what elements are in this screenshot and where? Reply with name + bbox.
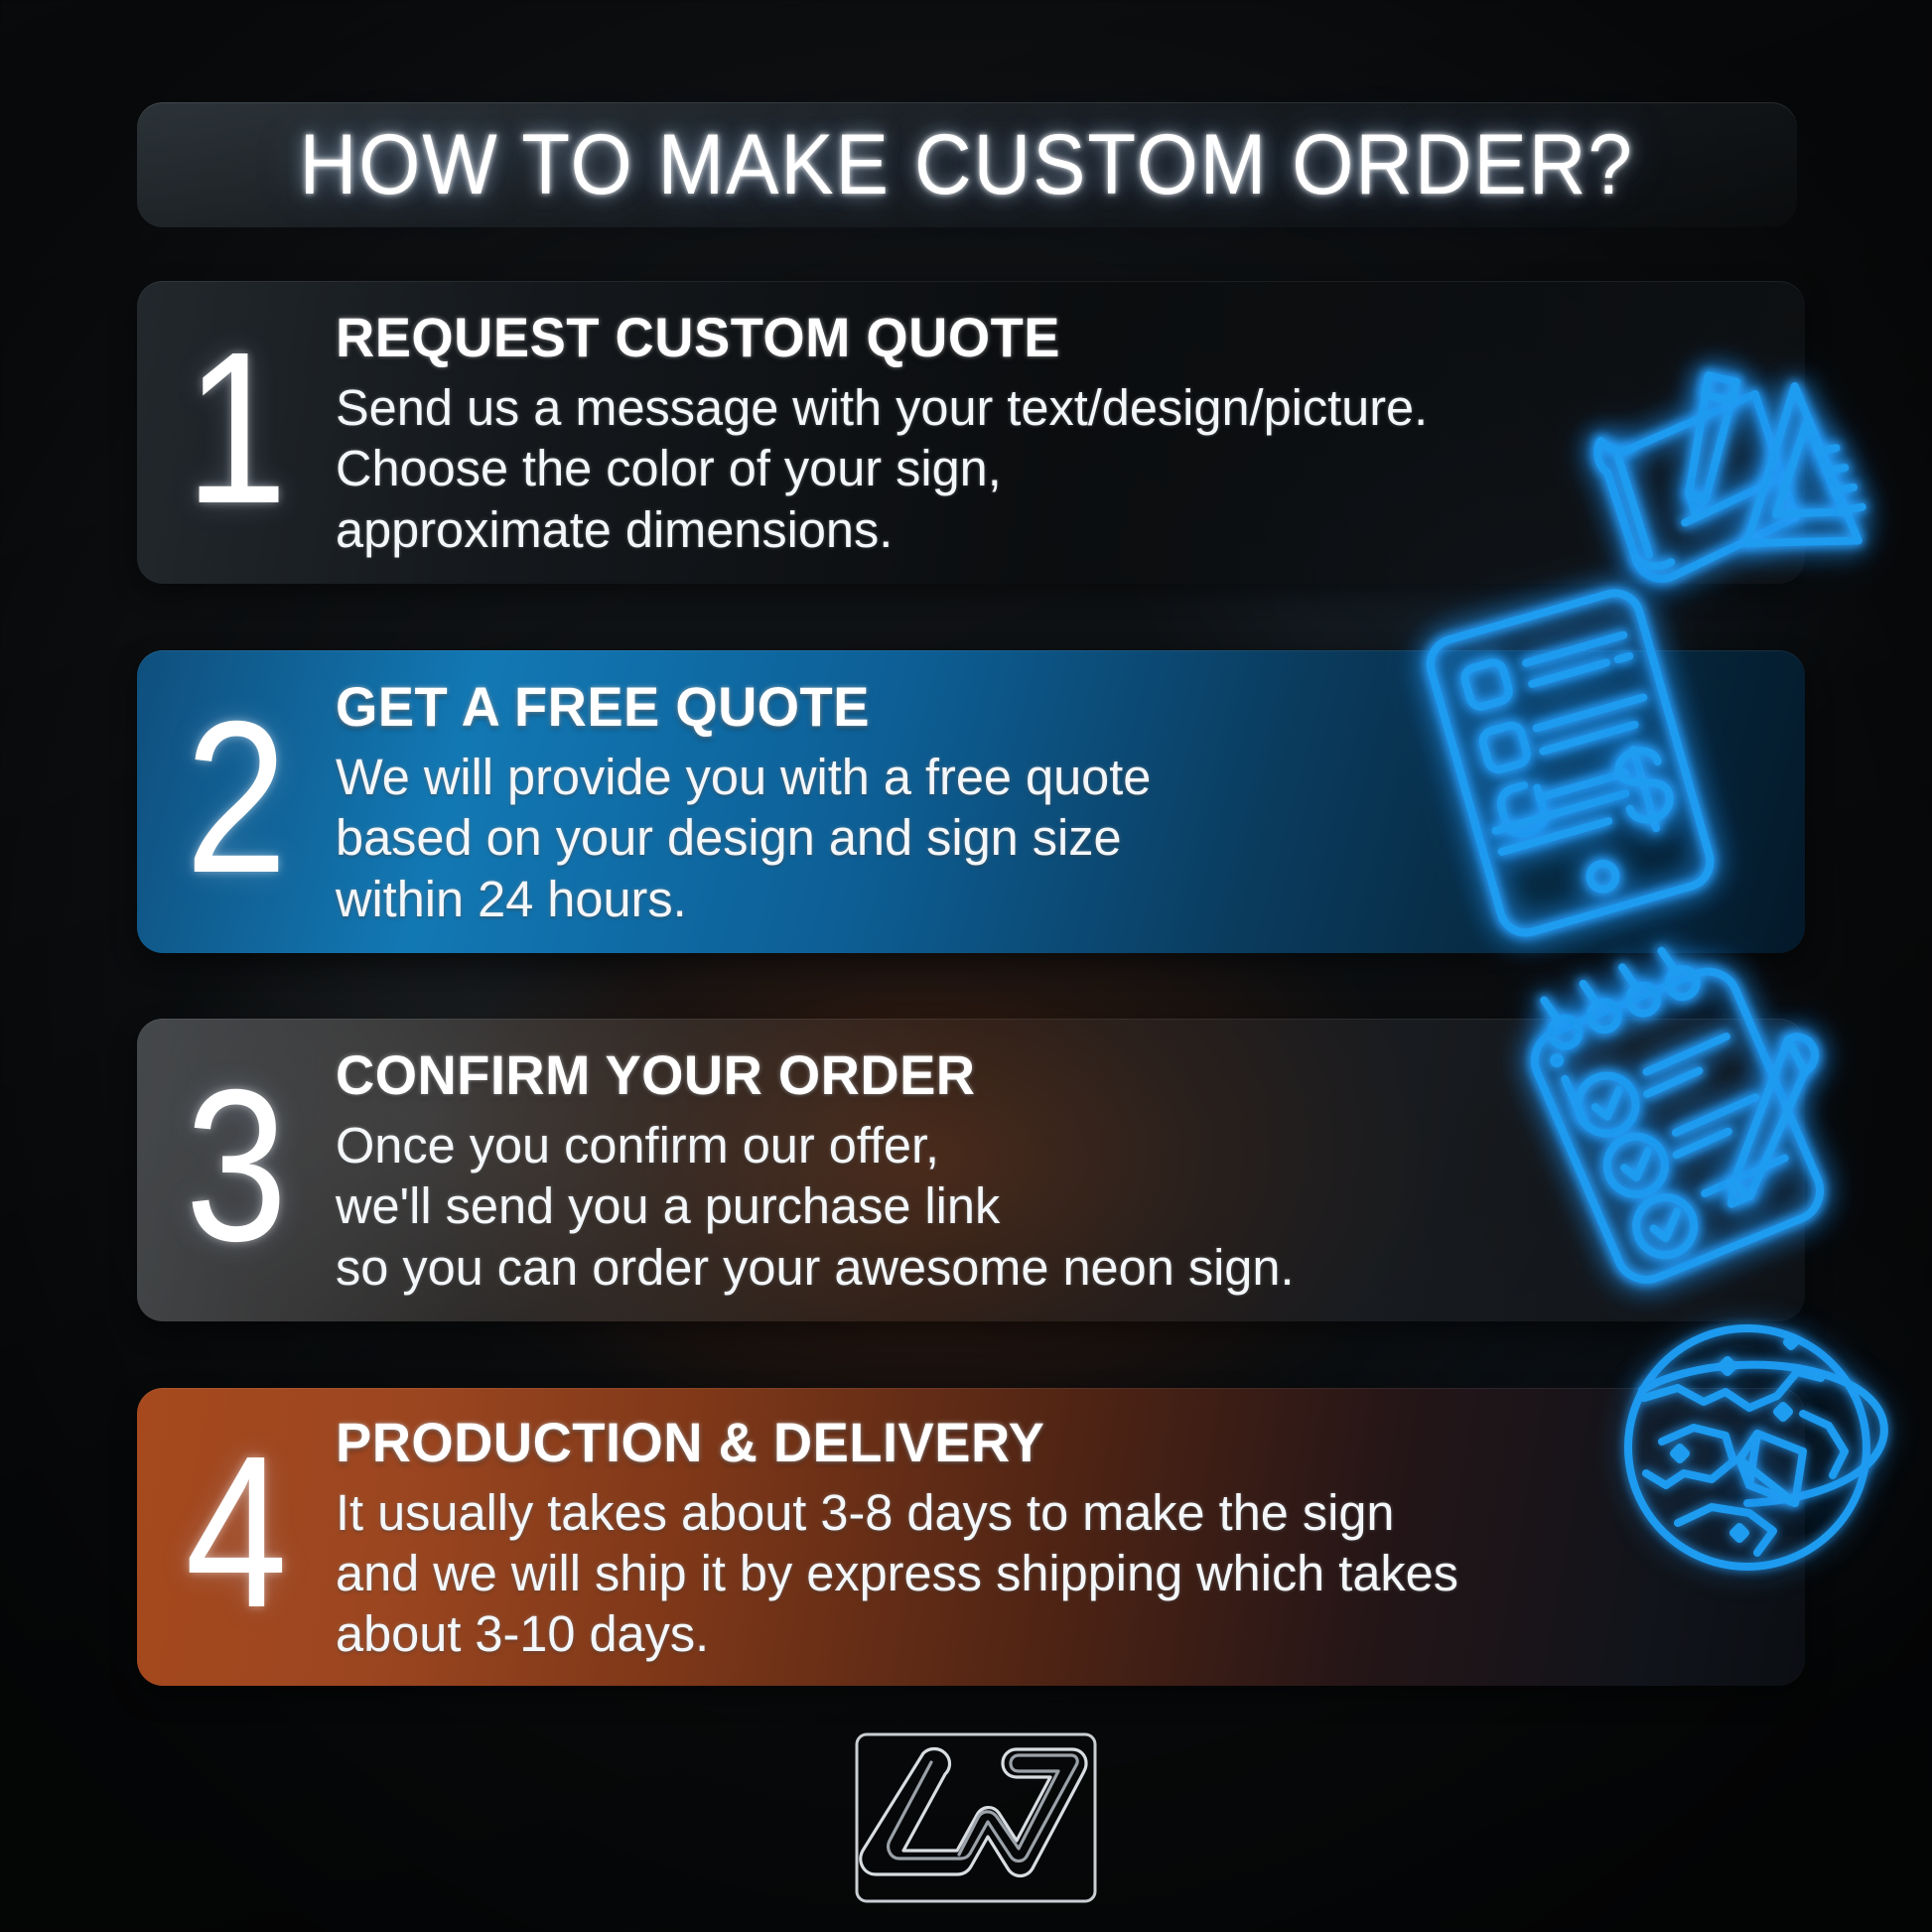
- step-number-1: 1: [152, 281, 321, 584]
- step-card-3: 3 CONFIRM YOUR ORDER Once you confirm ou…: [137, 1019, 1805, 1321]
- step-text-line: and we will ship it by express shipping …: [336, 1543, 1761, 1603]
- step-text-2: We will provide you with a free quote ba…: [336, 747, 1761, 929]
- step-text-line: It usually takes about 3-8 days to make …: [336, 1482, 1761, 1543]
- step-body-3: CONFIRM YOUR ORDER Once you confirm our …: [336, 1019, 1805, 1321]
- step-text-line: Send us a message with your text/design/…: [336, 377, 1761, 438]
- step-number-4: 4: [152, 1388, 321, 1686]
- step-text-line: based on your design and sign size: [336, 807, 1761, 868]
- step-heading-2: GET A FREE QUOTE: [336, 674, 1732, 739]
- step-card-2: 2 GET A FREE QUOTE We will provide you w…: [137, 650, 1805, 953]
- step-text-line: we'll send you a purchase link: [336, 1175, 1761, 1236]
- step-heading-1: REQUEST CUSTOM QUOTE: [336, 305, 1732, 369]
- step-text-line: Once you confirm our offer,: [336, 1115, 1761, 1175]
- step-heading-4: PRODUCTION & DELIVERY: [336, 1410, 1732, 1474]
- step-body-2: GET A FREE QUOTE We will provide you wit…: [336, 650, 1805, 953]
- step-card-4: 4 PRODUCTION & DELIVERY It usually takes…: [137, 1388, 1805, 1686]
- step-text-line: Choose the color of your sign,: [336, 438, 1761, 498]
- page-title-bar: HOW TO MAKE CUSTOM ORDER?: [137, 102, 1797, 227]
- step-text-line: approximate dimensions.: [336, 499, 1761, 560]
- step-text-3: Once you confirm our offer, we'll send y…: [336, 1115, 1761, 1298]
- step-heading-3: CONFIRM YOUR ORDER: [336, 1042, 1732, 1107]
- step-text-line: so you can order your awesome neon sign.: [336, 1237, 1761, 1298]
- page-title: HOW TO MAKE CUSTOM ORDER?: [300, 116, 1634, 214]
- step-text-line: We will provide you with a free quote: [336, 747, 1761, 807]
- step-body-4: PRODUCTION & DELIVERY It usually takes a…: [336, 1388, 1805, 1686]
- infographic-page: HOW TO MAKE CUSTOM ORDER? 1 REQUEST CUST…: [0, 0, 1932, 1932]
- step-text-line: about 3-10 days.: [336, 1603, 1761, 1664]
- step-number-2: 2: [152, 650, 321, 953]
- neon-monogram-logo: [852, 1729, 1100, 1906]
- step-text-1: Send us a message with your text/design/…: [336, 377, 1761, 560]
- step-text-line: within 24 hours.: [336, 869, 1761, 929]
- step-body-1: REQUEST CUSTOM QUOTE Send us a message w…: [336, 281, 1805, 584]
- step-number-3: 3: [152, 1019, 321, 1321]
- step-text-4: It usually takes about 3-8 days to make …: [336, 1482, 1761, 1665]
- step-card-1: 1 REQUEST CUSTOM QUOTE Send us a message…: [137, 281, 1805, 584]
